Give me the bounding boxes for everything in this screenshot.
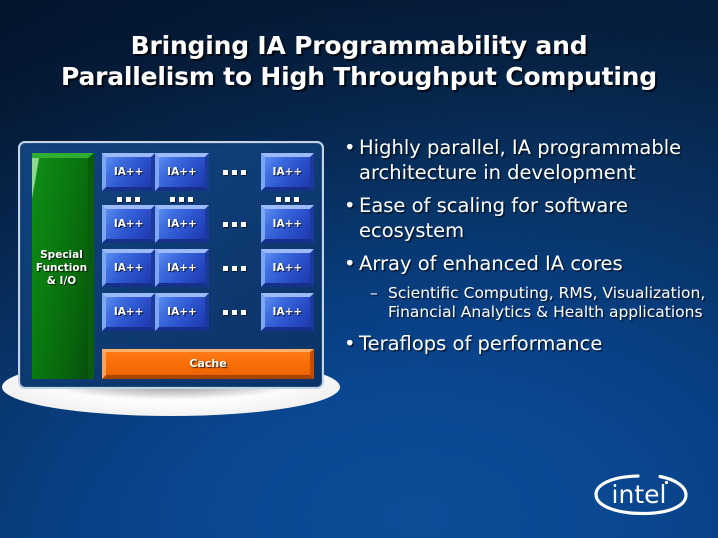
ia-core-label: IA++ — [114, 166, 144, 178]
chip-diagram: Special Function & I/O IA++ IA++ — [18, 141, 324, 389]
ellipsis-icon — [209, 249, 261, 287]
ia-core-label: IA++ — [273, 218, 303, 230]
ellipsis-icon — [155, 193, 208, 205]
ia-core-label: IA++ — [114, 218, 144, 230]
ia-core-label: IA++ — [167, 166, 197, 178]
intel-wordmark: intel — [612, 480, 667, 509]
bullet-item: • Ease of scaling for software ecosystem — [340, 194, 712, 243]
intel-logo: intel — [588, 466, 692, 522]
ia-core-block: IA++ — [261, 153, 314, 191]
ia-core-block: IA++ — [102, 153, 155, 191]
bullet-text: Ease of scaling for software ecosystem — [359, 194, 628, 242]
ellipsis-icon — [209, 153, 261, 191]
ia-core-block: IA++ — [102, 205, 155, 243]
ellipsis-icon — [102, 193, 155, 205]
bullet-marker: • — [344, 252, 356, 277]
ia-core-label: IA++ — [114, 262, 144, 274]
ellipsis-icon — [261, 193, 314, 205]
bullet-text: Highly parallel, IA programmable archite… — [359, 136, 681, 184]
sub-bullet-item: – Scientific Computing, RMS, Visualizati… — [340, 284, 712, 323]
sfio-line-2: Function — [36, 262, 87, 274]
bullet-item: • Highly parallel, IA programmable archi… — [340, 136, 712, 185]
core-row: IA++ IA++ IA++ — [102, 249, 314, 287]
page-title: Bringing IA Programmability and Parallel… — [0, 30, 718, 92]
core-row: IA++ IA++ IA++ — [102, 293, 314, 331]
ia-core-block: IA++ — [155, 205, 208, 243]
bullet-marker: • — [344, 194, 356, 219]
ia-core-block: IA++ — [155, 249, 208, 287]
page-title-line-2: Parallelism to High Throughput Computing — [0, 61, 718, 92]
vertical-ellipsis-row — [102, 193, 314, 205]
ia-core-label: IA++ — [273, 262, 303, 274]
page-title-line-1: Bringing IA Programmability and — [0, 30, 718, 61]
bullet-marker: • — [344, 332, 356, 357]
core-grid: IA++ IA++ IA++ — [102, 153, 314, 343]
ia-core-label: IA++ — [273, 306, 303, 318]
sfio-line-1: Special — [40, 249, 83, 261]
ia-core-block: IA++ — [155, 153, 208, 191]
ia-core-label: IA++ — [273, 166, 303, 178]
bullet-item: • Teraflops of performance — [340, 332, 712, 357]
cache-label: Cache — [189, 357, 226, 370]
ia-core-block: IA++ — [261, 293, 314, 331]
ia-core-label: IA++ — [114, 306, 144, 318]
ia-core-block: IA++ — [261, 205, 314, 243]
special-function-io-block: Special Function & I/O — [32, 153, 94, 379]
bullet-item: • Array of enhanced IA cores — [340, 252, 712, 277]
slide-canvas: Bringing IA Programmability and Parallel… — [0, 0, 718, 538]
ia-core-block: IA++ — [261, 249, 314, 287]
core-row: IA++ IA++ IA++ — [102, 153, 314, 191]
bullet-marker: • — [344, 136, 356, 161]
chip-substrate: Special Function & I/O IA++ IA++ — [24, 147, 318, 383]
sub-bullet-text: Scientific Computing, RMS, Visualization… — [388, 284, 705, 322]
bullet-list: • Highly parallel, IA programmable archi… — [340, 136, 712, 365]
sub-bullet-marker: – — [370, 284, 378, 304]
ellipsis-icon — [209, 293, 261, 331]
ia-core-block: IA++ — [155, 293, 208, 331]
cache-block: Cache — [102, 349, 314, 379]
sfio-line-3: & I/O — [47, 275, 76, 287]
ellipsis-spacer — [208, 193, 261, 205]
core-row: IA++ IA++ IA++ — [102, 205, 314, 243]
ellipsis-icon — [209, 205, 261, 243]
ia-core-label: IA++ — [167, 262, 197, 274]
bullet-text: Teraflops of performance — [359, 332, 602, 355]
ia-core-block: IA++ — [102, 249, 155, 287]
ia-core-block: IA++ — [102, 293, 155, 331]
bullet-text: Array of enhanced IA cores — [359, 252, 623, 275]
core-array-area: IA++ IA++ IA++ — [102, 153, 314, 379]
special-function-io-label: Special Function & I/O — [33, 249, 87, 288]
ia-core-label: IA++ — [167, 218, 197, 230]
ia-core-label: IA++ — [167, 306, 197, 318]
